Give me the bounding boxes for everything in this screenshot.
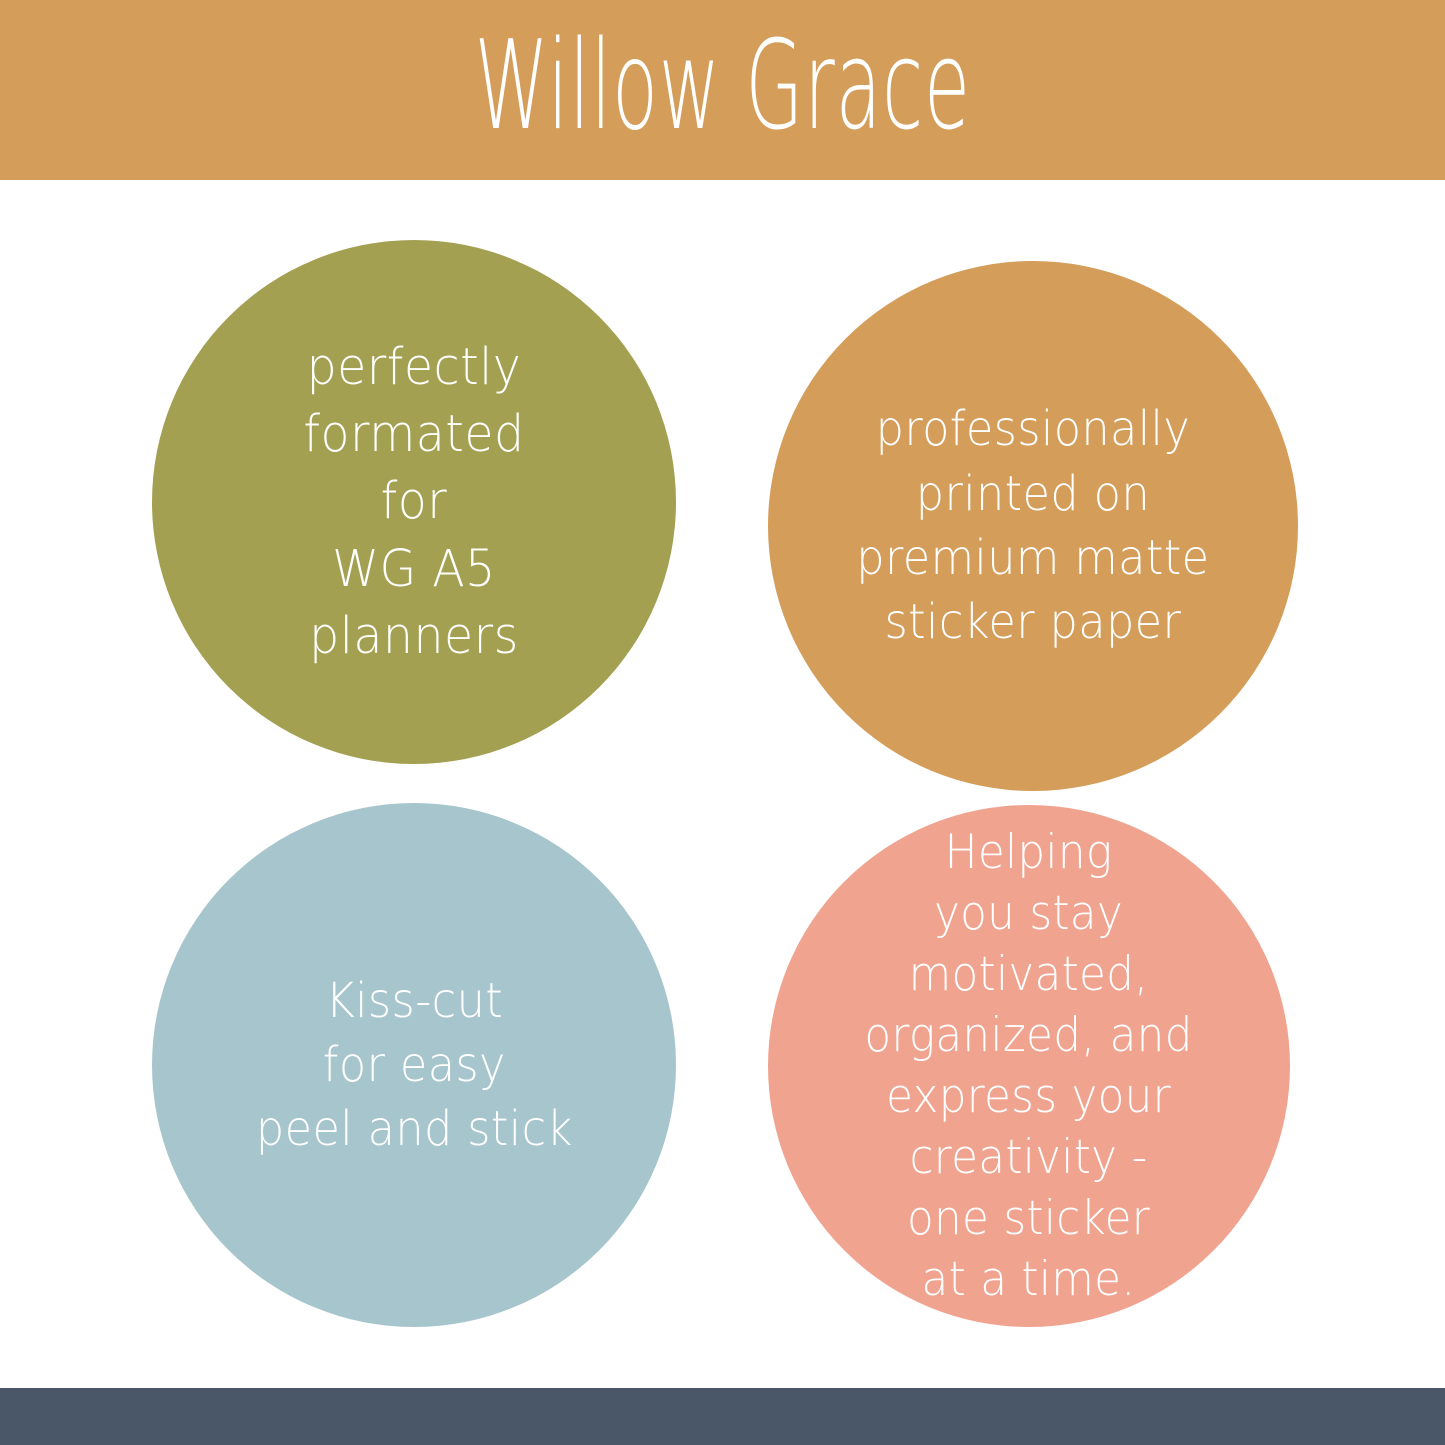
header-banner: Willow Grace xyxy=(0,0,1445,180)
feature-circle-kiss-cut-text: Kiss-cut for easy peel and stick xyxy=(256,969,573,1162)
feature-circle-printing-text: professionally printed on premium matte … xyxy=(856,397,1209,654)
feature-circle-formatting: perfectly formated for WG A5 planners xyxy=(152,240,676,764)
feature-circle-mission: Helping you stay motivated, organized, a… xyxy=(768,805,1290,1327)
feature-circle-printing: professionally printed on premium matte … xyxy=(768,261,1298,791)
brand-title: Willow Grace xyxy=(474,24,970,156)
footer-banner xyxy=(0,1388,1445,1445)
sticker-brand-infographic: Willow Grace perfectly formated for WG A… xyxy=(0,0,1445,1445)
feature-circle-formatting-text: perfectly formated for WG A5 planners xyxy=(303,334,524,671)
feature-circle-mission-text: Helping you stay motivated, organized, a… xyxy=(865,822,1193,1311)
feature-circle-kiss-cut: Kiss-cut for easy peel and stick xyxy=(152,803,676,1327)
